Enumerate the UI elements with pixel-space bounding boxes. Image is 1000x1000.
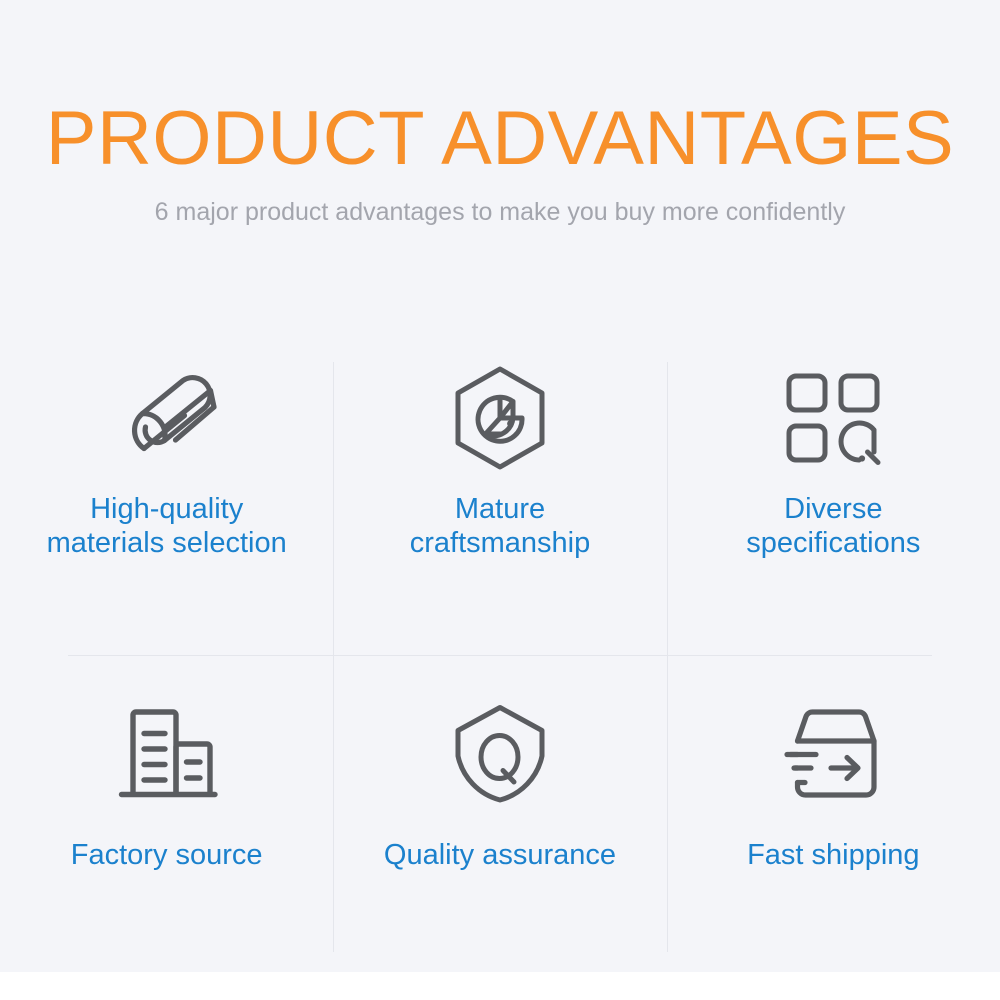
page-subtitle: 6 major product advantages to make you b… [0,182,1000,228]
advantage-label: Diverse specifications [746,474,920,560]
advantage-label: Fast shipping [747,810,920,872]
advantages-grid: High-quality materials selection Mature … [0,340,1000,972]
hexagon-craft-icon [450,362,550,474]
advantage-label: High-quality materials selection [47,474,287,560]
grid-squares-search-icon [783,362,883,474]
factory-building-icon [116,698,218,810]
bottom-band [0,972,1000,1000]
advantage-item-factory-source[interactable]: Factory source [0,656,333,972]
advantage-item-diverse-specifications[interactable]: Diverse specifications [667,340,1000,656]
fabric-roll-icon [111,362,223,474]
advantage-label: Factory source [71,810,263,872]
advantage-label: Quality assurance [384,810,616,872]
advantage-item-high-quality-materials[interactable]: High-quality materials selection [0,340,333,656]
row-divider [68,655,932,656]
package-arrow-icon [781,698,885,810]
product-advantages-page: PRODUCT ADVANTAGES 6 major product advan… [0,0,1000,1000]
shield-q-icon [453,698,547,810]
advantage-item-quality-assurance[interactable]: Quality assurance [333,656,666,972]
page-title: PRODUCT ADVANTAGES [0,0,1000,182]
advantage-item-mature-craftsmanship[interactable]: Mature craftsmanship [333,340,666,656]
page-header: PRODUCT ADVANTAGES 6 major product advan… [0,0,1000,228]
advantage-label: Mature craftsmanship [410,474,591,560]
advantage-item-fast-shipping[interactable]: Fast shipping [667,656,1000,972]
